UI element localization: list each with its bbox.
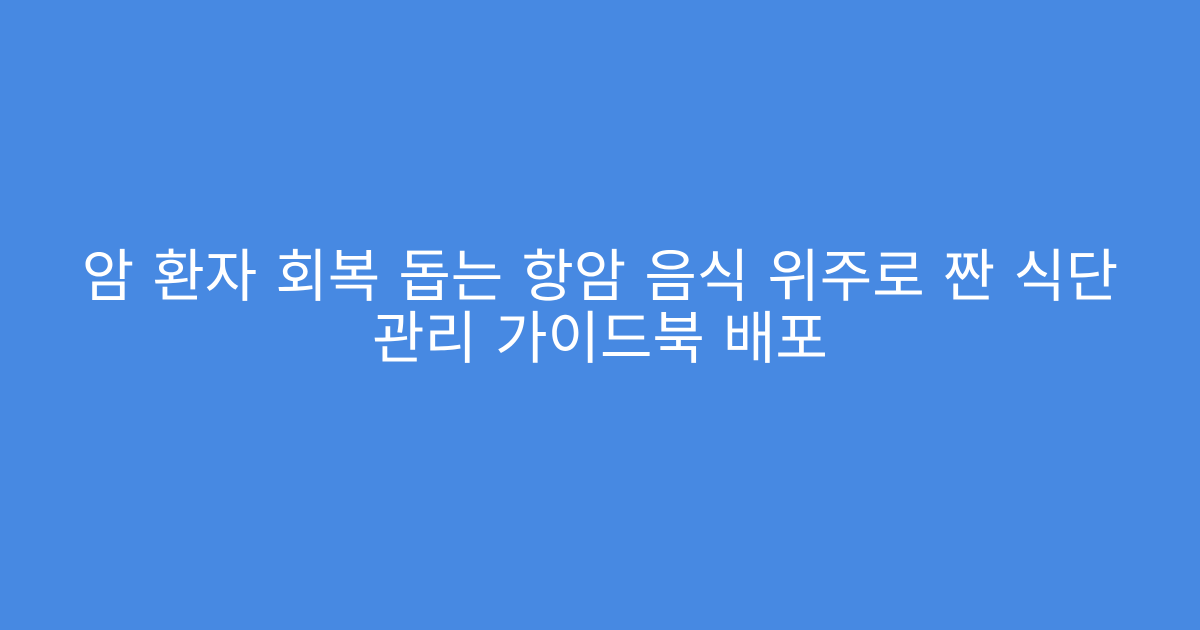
headline-block: 암 환자 회복 돕는 항암 음식 위주로 짠 식단 관리 가이드북 배포 [70,246,1130,370]
page-title: 암 환자 회복 돕는 항암 음식 위주로 짠 식단 관리 가이드북 배포 [70,246,1130,370]
banner-canvas: 암 환자 회복 돕는 항암 음식 위주로 짠 식단 관리 가이드북 배포 [0,0,1200,630]
